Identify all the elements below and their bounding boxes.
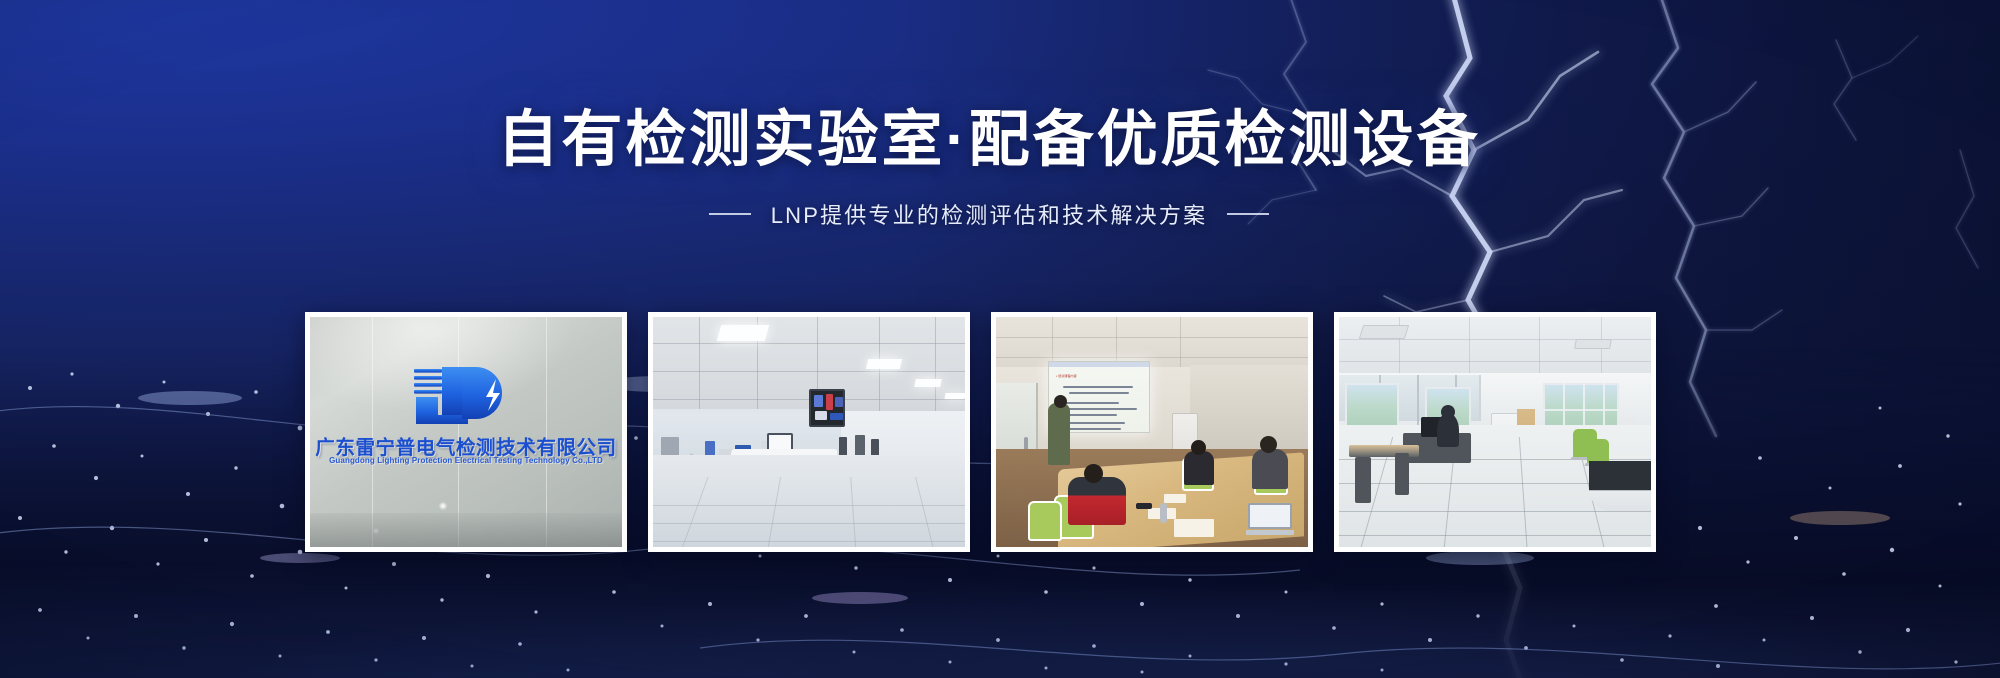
photo-training-meeting-room: ▪ 培训课程内容: [996, 317, 1308, 547]
photo-testing-laboratory: [653, 317, 965, 547]
gallery-card-office-reception-area[interactable]: [1334, 312, 1656, 552]
person-seated-red: [1068, 477, 1126, 525]
dash-left-icon: [709, 213, 751, 215]
photo-office-reception-area: [1339, 317, 1651, 547]
wall-monitor-icon: [809, 389, 845, 427]
person-seated-center: [1184, 451, 1214, 485]
gallery-card-testing-laboratory[interactable]: [648, 312, 970, 552]
laptop-icon: [1246, 503, 1294, 535]
photo-company-logo-wall: 广东雷宁普电气检测技术有限公司 Guangdong Lighting Prote…: [310, 317, 622, 547]
page-title: 自有检测实验室·配备优质检测设备: [0, 104, 2000, 176]
hero-text-block: 自有检测实验室·配备优质检测设备 LNP提供专业的检测评估和技术解决方案: [0, 104, 2000, 230]
photo-gallery: 广东雷宁普电气检测技术有限公司 Guangdong Lighting Prote…: [305, 312, 1656, 552]
hero-banner: 自有检测实验室·配备优质检测设备 LNP提供专业的检测评估和技术解决方案: [0, 0, 2000, 678]
gallery-card-company-logo-wall[interactable]: 广东雷宁普电气检测技术有限公司 Guangdong Lighting Prote…: [305, 312, 627, 552]
gallery-card-training-meeting-room[interactable]: ▪ 培训课程内容: [991, 312, 1313, 552]
dash-right-icon: [1227, 213, 1269, 215]
person-seated-right: [1252, 449, 1288, 489]
person-presenter: [1048, 403, 1070, 465]
sign-company-name-en: Guangdong Lighting Protection Electrical…: [329, 456, 603, 465]
lnp-logo-icon: [408, 363, 524, 430]
subtitle-row: LNP提供专业的检测评估和技术解决方案: [0, 198, 2000, 230]
reception-counter: [1589, 461, 1651, 511]
page-subtitle: LNP提供专业的检测评估和技术解决方案: [771, 198, 1208, 230]
